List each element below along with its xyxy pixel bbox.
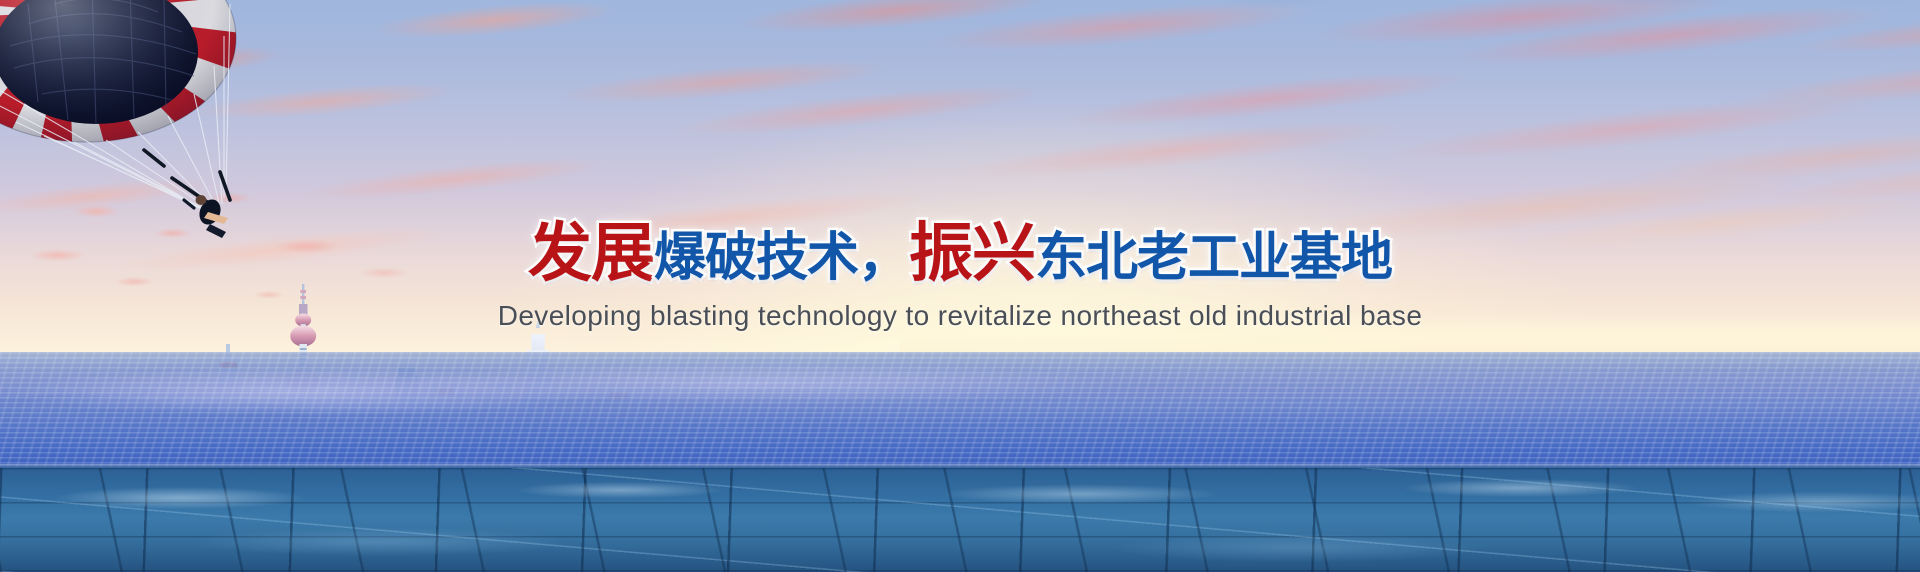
banner-headline: 发展爆破技术，振兴东北老工业基地	[528, 222, 1392, 286]
hero-banner: 发展爆破技术，振兴东北老工业基地 Developing blasting tec…	[0, 0, 1920, 572]
stone-pavement	[0, 468, 1920, 572]
pavement-highlight-sheen	[0, 468, 1920, 572]
headline-container: 发展爆破技术，振兴东北老工业基地	[0, 222, 1920, 286]
headline-segment-fazhan: 发展	[528, 222, 654, 286]
headline-segment-zhenxing: 振兴	[909, 222, 1035, 286]
parasail-image	[0, 0, 288, 242]
headline-segment-comma: ，	[858, 232, 909, 284]
headline-segment-dongbei: 东北老工业基地	[1035, 232, 1392, 284]
headline-segment-baopojishu: 爆破技术	[654, 232, 858, 284]
sea-sparkle-overlay	[0, 352, 1920, 472]
